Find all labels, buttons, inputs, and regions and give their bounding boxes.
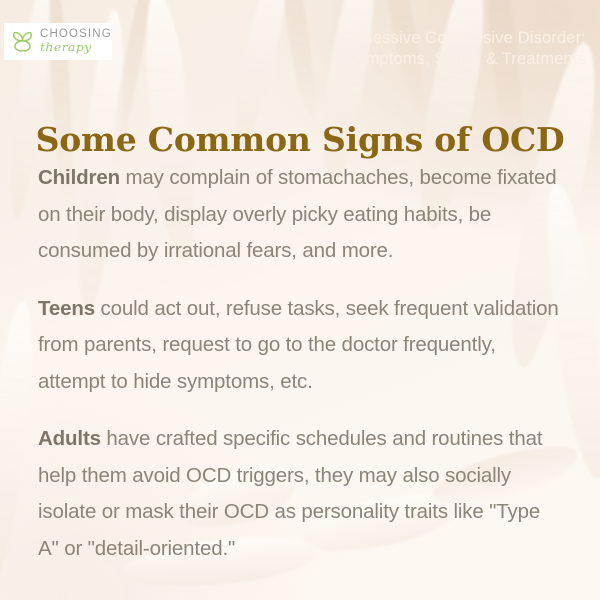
series-eyebrow: Obsessive Compulsive Disorder: Symptoms,… [342, 28, 586, 70]
paragraph-children: Children may complain of stomachaches, b… [38, 160, 564, 270]
leaf-petal-icon [9, 28, 36, 55]
brand-name-script: therapy [40, 42, 112, 53]
paragraph-lead-teens: Teens [38, 297, 95, 320]
paragraph-text-teens: could act out, refuse tasks, seek freque… [38, 297, 559, 393]
series-eyebrow-line-1: Obsessive Compulsive Disorder: [342, 28, 586, 49]
brand-logo[interactable]: CHOOSING therapy [4, 23, 112, 60]
page-title: Some Common Signs of OCD [0, 120, 600, 160]
brand-name-primary: CHOOSING [40, 29, 112, 41]
paragraph-lead-adults: Adults [38, 427, 101, 450]
series-eyebrow-line-2: Symptoms, Signs, & Treatments [342, 49, 586, 70]
paragraph-adults: Adults have crafted specific schedules a… [38, 421, 564, 567]
paragraph-lead-children: Children [38, 166, 120, 189]
brand-wordmark: CHOOSING therapy [40, 29, 112, 54]
body-copy: Children may complain of stomachaches, b… [38, 160, 564, 567]
paragraph-text-adults: have crafted specific schedules and rout… [38, 427, 542, 560]
poster-canvas: CHOOSING therapy Obsessive Compulsive Di… [0, 0, 600, 600]
paragraph-teens: Teens could act out, refuse tasks, seek … [38, 291, 564, 401]
